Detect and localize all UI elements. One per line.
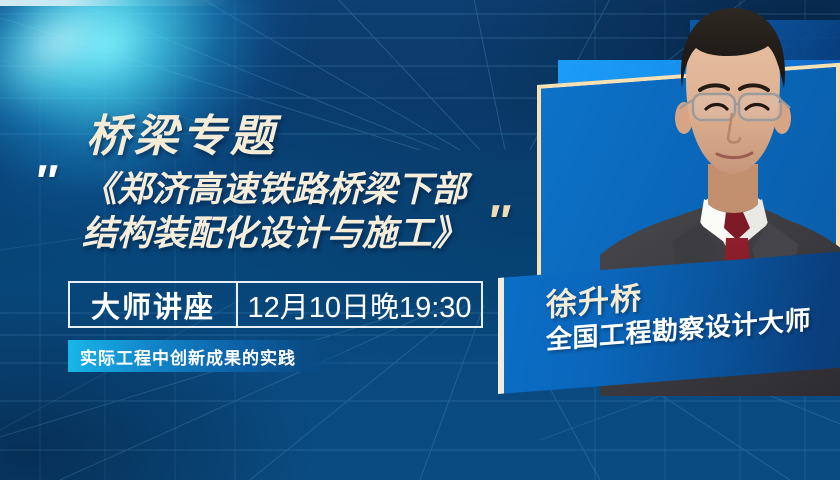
quote-open-icon: ″: [34, 168, 54, 196]
lecture-title-line-2: 结构装配化设计与施工》: [82, 212, 502, 256]
lecture-title: 《郑济高速铁路桥梁下部 结构装配化设计与施工》: [82, 168, 502, 256]
quote-close-icon: ″: [487, 208, 507, 236]
tagline-text: 实际工程中创新成果的实践: [80, 344, 296, 369]
lecture-title-line-1: 《郑济高速铁路桥梁下部: [82, 168, 502, 212]
lecture-promo-poster: 徐升桥 全国工程勘察设计大师 桥梁专题 ″ 《郑济高速铁路桥梁下部 结构装配化设…: [0, 0, 840, 480]
series-label: 大师讲座: [70, 283, 238, 326]
page-title: 桥梁专题: [86, 100, 278, 164]
lecture-info-box: 大师讲座 12月10日晚19:30: [68, 281, 483, 328]
tagline-bar: 实际工程中创新成果的实践: [68, 340, 346, 372]
lecture-datetime: 12月10日晚19:30: [238, 283, 481, 326]
